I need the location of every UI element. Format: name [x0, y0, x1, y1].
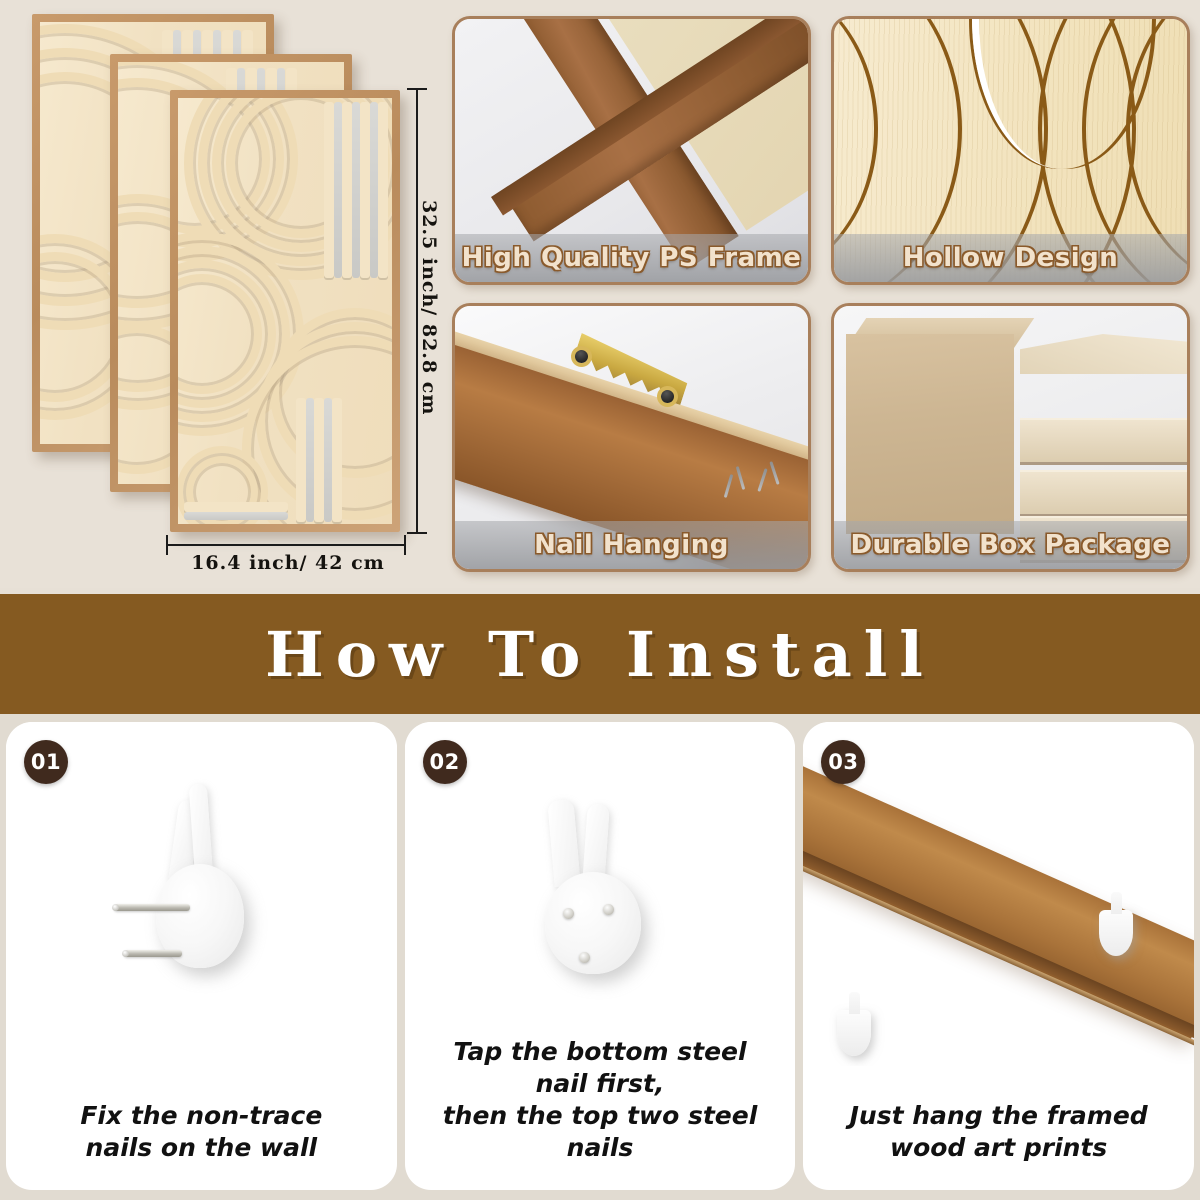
feature-label: Durable Box Package [834, 521, 1187, 569]
step-caption: Just hang the framed wood art prints [803, 1100, 1194, 1164]
width-dimension-line [166, 544, 406, 546]
hanging-frame-photo [803, 722, 1194, 1066]
step-caption-line1: Just hang the framed [850, 1101, 1148, 1130]
step-number-badge: 03 [821, 740, 865, 784]
wood-art-panel-front [170, 90, 400, 532]
step-caption-line1: Fix the non-trace [80, 1101, 322, 1130]
install-step-card: 03 Just hang the framed wood art prints [803, 722, 1194, 1190]
feature-card-grid: High Quality PS Frame Hollow Design [452, 16, 1190, 572]
feature-card-ps-frame: High Quality PS Frame [452, 16, 811, 285]
product-infographic: 32.5 inch/ 82.8 cm 16.4 inch/ 42 cm High… [0, 0, 1200, 1200]
feature-label: Hollow Design [834, 234, 1187, 282]
wood-art-panel-stack [0, 0, 450, 588]
install-steps-section: 01 Fix the non-trace nails on the wall 0… [0, 714, 1200, 1200]
install-step-card: 02 Tap the bottom steel nail first, then… [405, 722, 796, 1190]
banner-title: How To Install [265, 618, 935, 691]
hero-product-showcase: 32.5 inch/ 82.8 cm 16.4 inch/ 42 cm [0, 0, 450, 588]
step-number-badge: 01 [24, 740, 68, 784]
feature-card-hollow-design: Hollow Design [831, 16, 1190, 285]
step-number-badge: 02 [423, 740, 467, 784]
how-to-install-banner: How To Install [0, 594, 1200, 714]
step-caption-line1: Tap the bottom steel nail first, [453, 1037, 746, 1098]
feature-card-box-package: Durable Box Package [831, 303, 1190, 572]
width-dimension-label: 16.4 inch/ 42 cm [150, 552, 426, 574]
step-caption: Fix the non-trace nails on the wall [6, 1100, 397, 1164]
step-caption-line2: nails on the wall [86, 1133, 318, 1162]
wall-hook-icon [837, 1010, 871, 1056]
step-caption-line2: then the top two steel nails [443, 1101, 758, 1162]
feature-label: High Quality PS Frame [455, 234, 808, 282]
feature-card-nail-hanging: Nail Hanging [452, 303, 811, 572]
feature-label: Nail Hanging [455, 521, 808, 569]
top-section: 32.5 inch/ 82.8 cm 16.4 inch/ 42 cm High… [0, 0, 1200, 588]
step-caption-line2: wood art prints [890, 1133, 1107, 1162]
install-step-card: 01 Fix the non-trace nails on the wall [6, 722, 397, 1190]
wood-art-pattern [178, 98, 392, 524]
height-dimension-label: 32.5 inch/ 82.8 cm [418, 200, 440, 415]
step-caption: Tap the bottom steel nail first, then th… [405, 1036, 796, 1164]
